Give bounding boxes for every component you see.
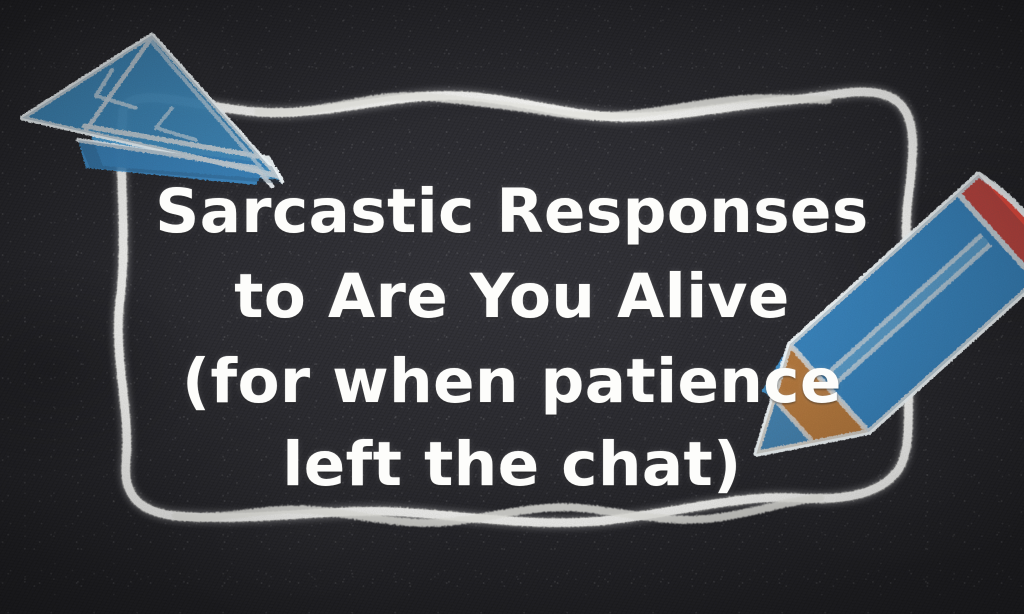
chalkboard-poster: Sarcastic Responses to Are You Alive (fo… (0, 0, 1024, 614)
pencil-icon (0, 0, 1024, 614)
